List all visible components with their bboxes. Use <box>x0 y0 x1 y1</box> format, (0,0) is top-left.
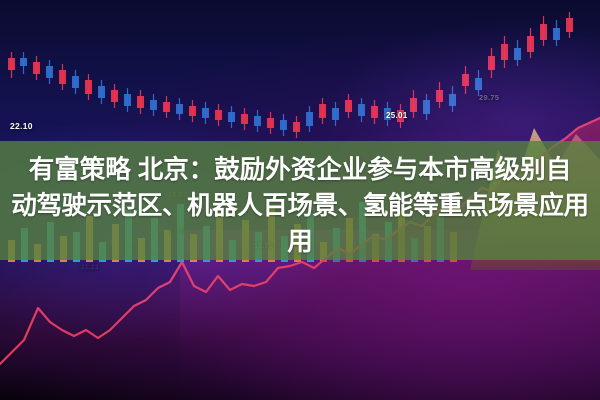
price-label: 29.75 <box>479 93 499 102</box>
price-label: 22.10 <box>10 121 33 131</box>
price-label: 21.23 <box>81 264 99 271</box>
screenshot-root: 22.1025.0129.7518.0718.7521.2321.30 有富策略… <box>0 0 600 400</box>
price-label: 25.01 <box>386 111 408 120</box>
headline-line-1: 有富策略 北京：鼓励外资企业参与本市高级别自 <box>0 152 600 188</box>
headline-line-2: 动驾驶示范区、机器人百场景、氢能等重点场景应用 <box>0 188 600 224</box>
headline-line-3: 用 <box>0 224 600 260</box>
headline: 有富策略 北京：鼓励外资企业参与本市高级别自 动驾驶示范区、机器人百场景、氢能等… <box>0 152 600 260</box>
